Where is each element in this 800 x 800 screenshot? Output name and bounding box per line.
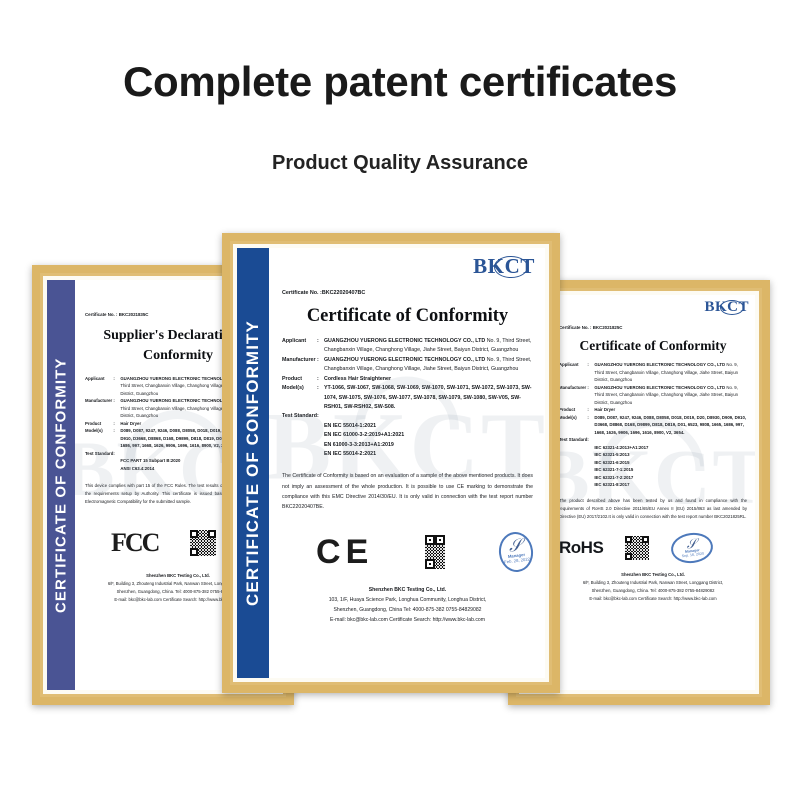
field-row: Model(s) : D089, D087, 9247, 9246, D088,…: [559, 414, 747, 437]
field-label: Product: [559, 406, 587, 414]
field-label: Manufacturer: [282, 356, 317, 375]
signature: 𝒮: [507, 535, 523, 556]
field-row: Test Standard : IEC 62321-4:2013+A1:2017…: [559, 436, 747, 489]
page-subtitle: Product Quality Assurance: [0, 152, 800, 175]
field-colon: :: [587, 436, 594, 489]
frame-inner-mat: CERTIFICATE OF CONFORMITY BKCT BKCT Cert…: [233, 244, 549, 682]
qr-code-icon: [425, 535, 445, 569]
certificate-body: BKCT BKCT Certificate No. :BKC22020407BC: [269, 248, 545, 678]
qr-code-icon: [625, 536, 649, 560]
field-label: Test Standard: [282, 412, 317, 459]
field-value: GUANGZHOU YUERONG ELECTRONIC TECHNOLOGY …: [594, 384, 747, 407]
field-row: Product : Cordless Hair Straightener: [282, 375, 533, 384]
certificate-title: Certificate of Conformity: [282, 306, 533, 327]
certificate-marks: RoHS 𝒮 Manager Sep. 18, 2020: [559, 533, 747, 563]
footer-address-1: 6/F, Building 3, Zhouteng Industrial Par…: [559, 579, 747, 587]
field-value: YT-1066, SW-1067, SW-1068, SW-1069, SW-1…: [324, 384, 533, 412]
field-colon: :: [587, 414, 594, 437]
approval-stamp: 𝒮 Manager Sep. 18, 2020: [670, 530, 715, 565]
field-standard-extra: ANSI C63.4:2014: [120, 466, 154, 471]
footer-company: Shenzhen BKC Testing Co., Ltd.: [282, 586, 533, 596]
field-label: Manufacturer: [85, 397, 113, 420]
certificate-spine: CERTIFICATE OF CONFORMITY: [47, 280, 75, 690]
field-label: Applicant: [282, 337, 317, 356]
spine-label: CERTIFICATE OF CONFORMITY: [53, 357, 70, 613]
footer-contact: E-mail: bkc@bkc-lab.com Certificate Sear…: [559, 595, 747, 603]
certificate-fields: Applicant : GUANGZHOU YUERONG ELECTRONIC…: [282, 337, 533, 459]
field-label: Model(s): [559, 414, 587, 437]
field-row: Test Standard : EN IEC 55014-1:2021 EN I…: [282, 412, 533, 459]
certificate-footer: Shenzhen BKC Testing Co., Ltd. 103, 1/F,…: [282, 586, 533, 626]
certificate-center[interactable]: CERTIFICATE OF CONFORMITY BKCT BKCT Cert…: [222, 233, 560, 693]
field-label: Test Standard: [85, 450, 113, 473]
field-label: Model(s): [282, 384, 317, 412]
ce-mark-icon: CE: [316, 533, 371, 572]
field-label: Applicant: [85, 375, 113, 398]
certificate-spine: CERTIFICATE OF CONFORMITY: [237, 248, 269, 678]
certificate-marks: CE 𝒮 Manager Feb.: [282, 532, 533, 572]
footer-contact: E-mail: bkc@bkc-lab.com Certificate Sear…: [282, 616, 533, 626]
certificate-sheet: CERTIFICATE OF CONFORMITY BKCT BKCT Cert…: [237, 248, 545, 678]
field-colon: :: [113, 375, 120, 398]
field-value: GUANGZHOU YUERONG ELECTRONIC TECHNOLOGY …: [594, 361, 747, 384]
field-colon: :: [317, 384, 324, 412]
field-colon: :: [113, 420, 120, 428]
field-colon: :: [587, 406, 594, 414]
field-label: Product: [282, 375, 317, 384]
footer-address-1: 103, 1/F, Huaya Science Park, Longhua Co…: [282, 596, 533, 606]
field-value: D089, D087, 9247, 9246, D088, D8058, D01…: [594, 414, 747, 437]
field-value: IEC 62321-4:2013+A1:2017 IEC 62321-5:201…: [594, 436, 747, 489]
field-label: Manufacturer: [559, 384, 587, 407]
qr-code-icon: [190, 530, 216, 556]
field-label: Model(s): [85, 427, 113, 450]
certificate-body: BKCT BKCT Certificate No. : BKC2021825C …: [549, 295, 755, 690]
footer-address-2: Shenzhen, Guangdong, China. Tel: 4000-87…: [559, 587, 747, 595]
field-row: Manufacturer : GUANGZHOU YUERONG ELECTRO…: [559, 384, 747, 407]
field-row: Applicant : GUANGZHOU YUERONG ELECTRONIC…: [559, 361, 747, 384]
page-header: Complete patent certificates Product Qua…: [0, 0, 800, 175]
field-colon: :: [587, 384, 594, 407]
certificate-number: Certificate No. :BKC22020407BC: [282, 290, 533, 296]
field-value: EN IEC 55014-1:2021 EN IEC 61000-3-2:201…: [324, 412, 533, 459]
field-standard-extra: EN IEC 61000-3-2:2019+A1:2021 EN 61000-3…: [324, 432, 404, 457]
bkct-logo: BKCT: [473, 254, 535, 279]
field-colon: :: [587, 361, 594, 384]
field-colon: :: [113, 450, 120, 473]
field-value: GUANGZHOU YUERONG ELECTRONIC TECHNOLOGY …: [324, 356, 533, 375]
rohs-icon: RoHS: [559, 538, 603, 558]
field-value: Cordless Hair Straightener: [324, 375, 533, 384]
field-label: Product: [85, 420, 113, 428]
certificate-footer: Shenzhen BKC Testing Co., Ltd. 6/F, Buil…: [559, 571, 747, 603]
approval-stamp: 𝒮 Manager Feb. 28, 2022: [497, 530, 536, 574]
field-colon: :: [317, 337, 324, 356]
logo-ring: [494, 256, 527, 278]
field-colon: :: [317, 412, 324, 459]
certificate-paragraph: The Certificate of Conformity is based o…: [282, 471, 533, 512]
certificate-number: Certificate No. : BKC2021825C: [559, 325, 747, 330]
field-colon: :: [317, 375, 324, 384]
footer-address-2: Shenzhen, Guangdong, China Tel: 4000-875…: [282, 606, 533, 616]
spine-label: CERTIFICATE OF CONFORMITY: [243, 320, 263, 606]
field-row: Model(s) : YT-1066, SW-1067, SW-1068, SW…: [282, 384, 533, 412]
field-row: Applicant : GUANGZHOU YUERONG ELECTRONIC…: [282, 337, 533, 356]
field-standard-extra: IEC 62321-5:2013 IEC 62321-6:2015 IEC 62…: [594, 452, 633, 487]
bkct-logo: BKCT: [704, 299, 749, 316]
field-label: Test Standard: [559, 436, 587, 489]
certificate-paragraph: The product described above has been tes…: [559, 497, 747, 521]
field-value: Hair Dryer: [594, 406, 747, 414]
frame-outer-bevel: CERTIFICATE OF CONFORMITY BKCT BKCT Cert…: [230, 241, 552, 685]
certificates-stage: CERTIFICATE OF CONFORMITY BKCT Certifica…: [0, 225, 800, 700]
logo-ring: [720, 300, 744, 315]
page-title: Complete patent certificates: [0, 58, 800, 106]
field-colon: :: [113, 427, 120, 450]
certificate-fields: Applicant : GUANGZHOU YUERONG ELECTRONIC…: [559, 361, 747, 489]
footer-company: Shenzhen BKC Testing Co., Ltd.: [559, 571, 747, 579]
field-value: GUANGZHOU YUERONG ELECTRONIC TECHNOLOGY …: [324, 337, 533, 356]
field-label: Applicant: [559, 361, 587, 384]
fcc-icon: FCC: [111, 528, 158, 558]
field-colon: :: [317, 356, 324, 375]
certificate-frame: CERTIFICATE OF CONFORMITY BKCT BKCT Cert…: [222, 233, 560, 693]
field-colon: :: [113, 397, 120, 420]
field-row: Manufacturer : GUANGZHOU YUERONG ELECTRO…: [282, 356, 533, 375]
certificate-title: Certificate of Conformity: [559, 338, 747, 354]
signature: 𝒮: [686, 535, 698, 552]
field-row: Product : Hair Dryer: [559, 406, 747, 414]
